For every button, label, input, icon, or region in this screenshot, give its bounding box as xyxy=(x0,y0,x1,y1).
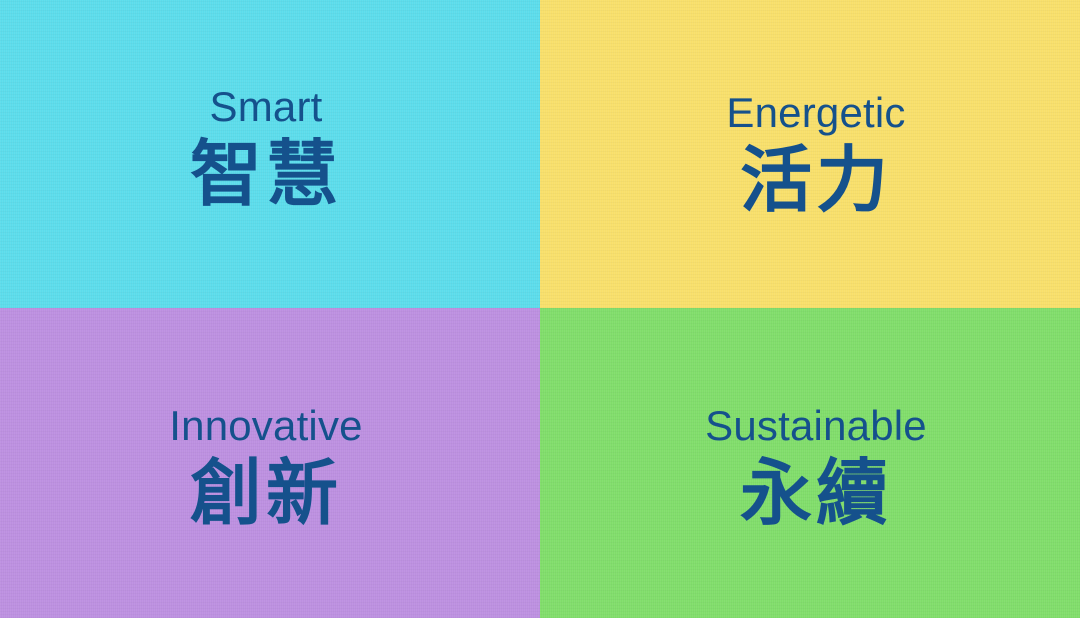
quadrant-energetic[interactable]: Energetic 活力 xyxy=(540,0,1080,308)
quadrant-innovative-text: Innovative 創新 xyxy=(169,405,362,529)
quadrant-innovative-label-cjk: 創新 xyxy=(169,457,362,529)
quadrant-sustainable-text: Sustainable 永續 xyxy=(705,405,927,529)
quadrant-energetic-label-en: Energetic xyxy=(726,92,905,134)
quadrant-sustainable[interactable]: Sustainable 永續 xyxy=(540,308,1080,618)
quadrant-energetic-label-cjk: 活力 xyxy=(726,144,905,216)
brand-values-grid: Smart 智慧 Energetic 活力 Innovative 創新 Sust… xyxy=(0,0,1080,618)
quadrant-sustainable-label-en: Sustainable xyxy=(705,405,927,447)
quadrant-smart-label-cjk: 智慧 xyxy=(190,138,342,210)
quadrant-sustainable-label-cjk: 永續 xyxy=(705,457,927,529)
quadrant-innovative[interactable]: Innovative 創新 xyxy=(0,308,540,618)
quadrant-energetic-text: Energetic 活力 xyxy=(726,92,905,216)
brand-values-canvas: Smart 智慧 Energetic 活力 Innovative 創新 Sust… xyxy=(0,0,1080,618)
quadrant-smart-label-en: Smart xyxy=(190,86,342,128)
quadrant-smart-text: Smart 智慧 xyxy=(190,86,342,210)
quadrant-smart[interactable]: Smart 智慧 xyxy=(0,0,540,308)
quadrant-innovative-label-en: Innovative xyxy=(169,405,362,447)
